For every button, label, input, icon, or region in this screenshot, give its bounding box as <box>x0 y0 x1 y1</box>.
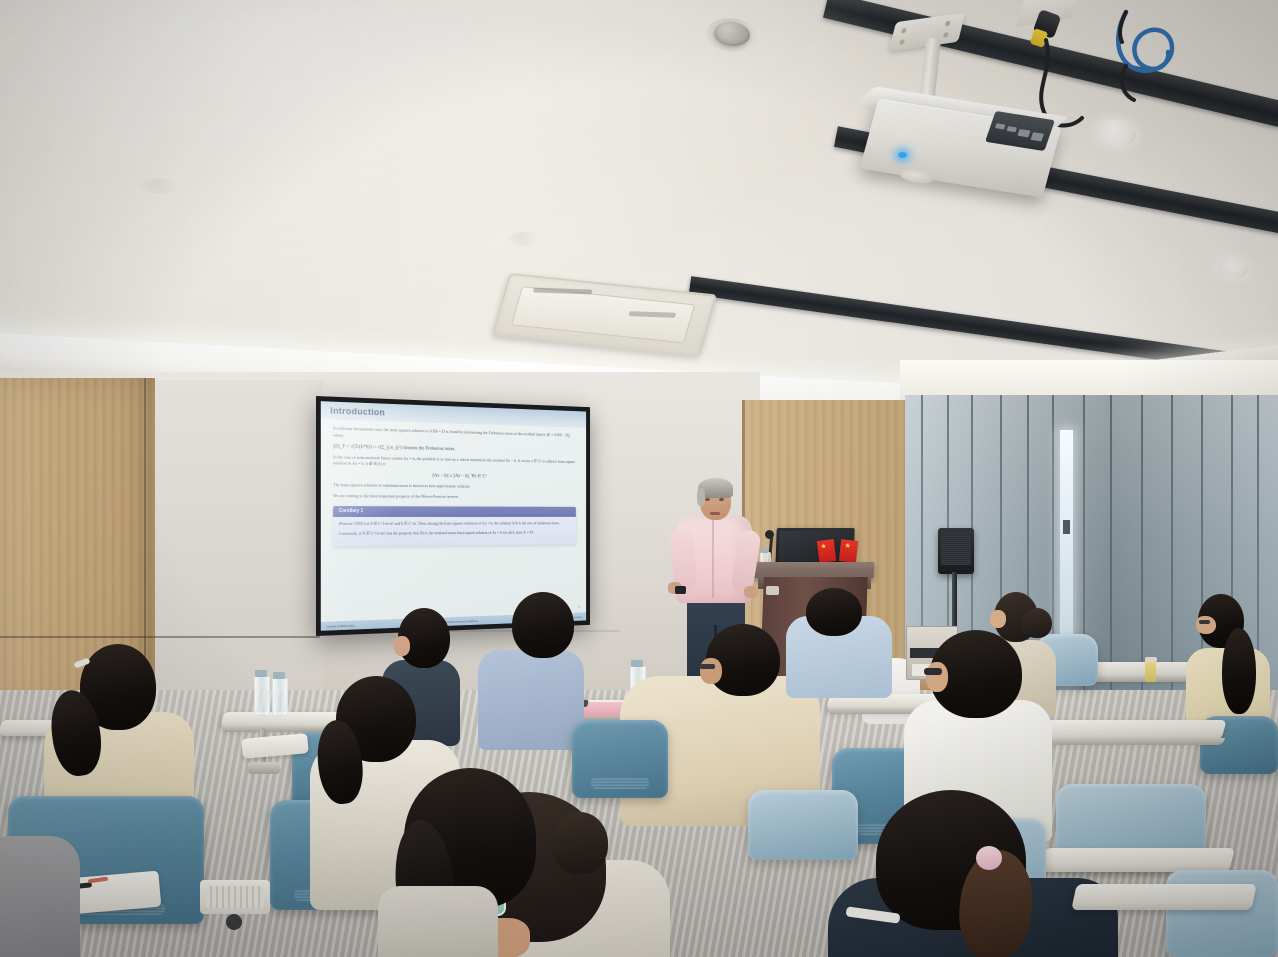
attendee-body <box>478 650 584 750</box>
microphone-head-icon <box>765 530 774 539</box>
wall-panel <box>148 380 323 705</box>
corollary-block: Corollary 1 (Penrose 1955) Let A ∈ C^{m×… <box>333 506 576 546</box>
coffee-cup <box>1145 660 1156 682</box>
attendee-hair <box>1222 628 1256 714</box>
attendee-body <box>0 836 80 957</box>
slide-title: Introduction <box>321 405 385 418</box>
chair[interactable] <box>748 790 858 860</box>
glasses-icon <box>700 664 715 669</box>
slide-body: In arbitrary inconsistent case, the leas… <box>333 426 576 547</box>
attendee-face <box>700 658 722 684</box>
presenter-mouth <box>710 512 720 515</box>
presenter-eye <box>719 498 724 501</box>
glasses-icon <box>1199 620 1210 624</box>
chair-ridges <box>591 777 649 789</box>
bottle-cap <box>631 660 643 667</box>
desk <box>1039 848 1235 872</box>
bottle-cap <box>273 672 285 679</box>
attendee-body <box>378 886 498 957</box>
chair[interactable] <box>572 720 668 798</box>
lecture-hall-photo: Introduction In arbitrary inconsistent c… <box>0 0 1278 957</box>
desk-flag-right: ★ <box>840 540 857 562</box>
chair-caster <box>226 914 242 930</box>
presenter-right-hand <box>744 586 758 598</box>
corollary-body: (Penrose 1955) Let A ∈ C^{m×n} and b ∈ C… <box>333 517 576 547</box>
slide-paragraph: We are coming to the most important prop… <box>333 493 576 501</box>
attendee-head <box>512 592 574 658</box>
wall-seam <box>0 636 320 638</box>
attendee-face <box>1196 616 1216 634</box>
coffee-cup-lid <box>1145 657 1157 662</box>
basket-weave <box>206 886 264 908</box>
desk-foot <box>248 762 280 774</box>
ceiling-shading <box>0 0 1278 400</box>
lectern-control-panel[interactable] <box>766 586 779 595</box>
water-bottle <box>254 676 270 716</box>
corollary-paragraph: Conversely, if X ∈ C^{n×m} has the prope… <box>339 530 571 538</box>
window-mullion <box>1063 520 1070 534</box>
attendee-face <box>394 636 410 656</box>
slide-paragraph: The least-squares solution of minimum no… <box>333 483 576 492</box>
desk <box>1041 720 1227 740</box>
presenter-hair-side <box>697 488 705 506</box>
slide-page-number: 9 <box>578 605 579 609</box>
slide-paragraph: In the case of nonconsistent linear syst… <box>333 454 576 472</box>
wall-seam <box>144 378 146 698</box>
bottle-cap <box>255 670 267 677</box>
attendee-head <box>806 588 862 636</box>
presentation-clicker[interactable] <box>675 586 686 594</box>
water-bottle <box>272 678 288 716</box>
slide-equation: ||E||_F = √(Tr(E*E)) = √(Σ_ij |e_ij|²) d… <box>333 443 576 455</box>
attendee-hair-bun <box>552 812 608 874</box>
presenter-shirt-placket <box>712 520 714 598</box>
attendee-face <box>926 662 948 692</box>
slide-equation: ||Ax − b|| ≤ ||Az − b||, ∀z ∈ Cⁿ <box>333 472 576 481</box>
desk-flag-left: ★ <box>818 540 835 562</box>
corollary-header: Corollary 1 <box>333 506 576 517</box>
pa-speaker-grille <box>941 531 971 565</box>
slide-paragraph: In arbitrary inconsistent case, the leas… <box>333 426 576 446</box>
desk <box>1071 884 1257 910</box>
hair-bun <box>1022 608 1052 638</box>
slide-title-bar: Introduction <box>321 401 586 428</box>
corollary-paragraph: (Penrose 1955) Let A ∈ C^{m×n} and b ∈ C… <box>339 520 571 527</box>
presenter-eye <box>705 498 710 501</box>
slide-footer-left: Institute of Mathematics <box>326 623 355 628</box>
glasses-icon <box>924 668 942 675</box>
desk-edge <box>1043 738 1225 745</box>
attendee-face <box>990 610 1006 628</box>
bottle-cap <box>761 548 768 553</box>
hair-scrunchie <box>976 846 1002 870</box>
